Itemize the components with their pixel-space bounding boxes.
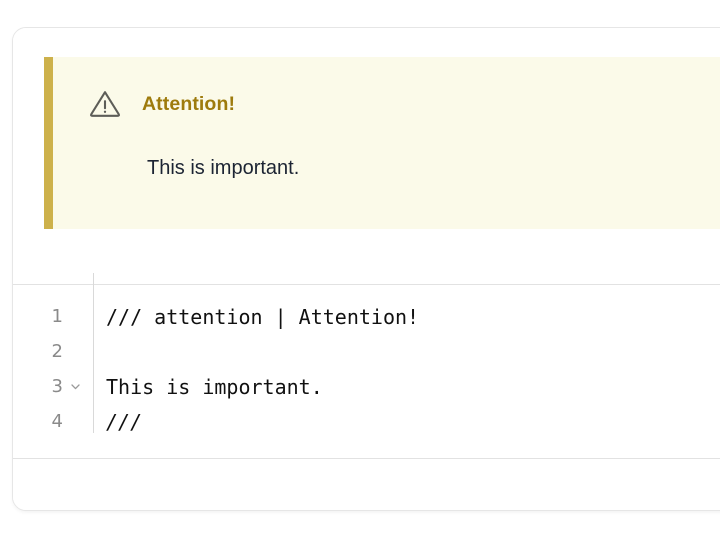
code-text[interactable]: This is important. [106, 369, 323, 404]
line-number: 4 [52, 413, 63, 431]
line-gutter: 2 [13, 334, 81, 369]
callout-title: Attention! [142, 93, 235, 116]
code-lines[interactable]: 1/// attention | Attention!23This is imp… [13, 299, 720, 439]
line-number: 3 [52, 378, 63, 396]
code-editor-pane[interactable]: 1/// attention | Attention!23This is imp… [13, 286, 720, 459]
code-line[interactable]: 3This is important. [13, 369, 720, 404]
callout-body: This is important. [147, 157, 299, 180]
callout-title-row: Attention! [53, 87, 235, 121]
markdown-callout-preview-card: Attention! This is important. 1/// atten… [12, 27, 720, 511]
line-gutter: 3 [13, 369, 81, 404]
card-footer [13, 460, 720, 510]
screen-root: Attention! This is important. 1/// atten… [0, 0, 720, 544]
code-text[interactable]: /// [106, 404, 142, 439]
attention-callout: Attention! This is important. [44, 57, 720, 229]
chevron-down-icon[interactable] [69, 380, 82, 393]
fold-spacer [69, 310, 82, 323]
code-text[interactable]: /// attention | Attention! [106, 299, 419, 334]
code-line[interactable]: 1/// attention | Attention! [13, 299, 720, 334]
code-line[interactable]: 2 [13, 334, 720, 369]
line-gutter: 1 [13, 299, 81, 334]
warning-triangle-icon [88, 87, 122, 121]
line-gutter: 4 [13, 404, 81, 439]
preview-pane: Attention! This is important. [13, 28, 720, 285]
fold-spacer [69, 345, 82, 358]
code-line[interactable]: 4/// [13, 404, 720, 439]
line-number: 1 [52, 308, 63, 326]
line-number: 2 [52, 343, 63, 361]
fold-spacer [69, 415, 82, 428]
